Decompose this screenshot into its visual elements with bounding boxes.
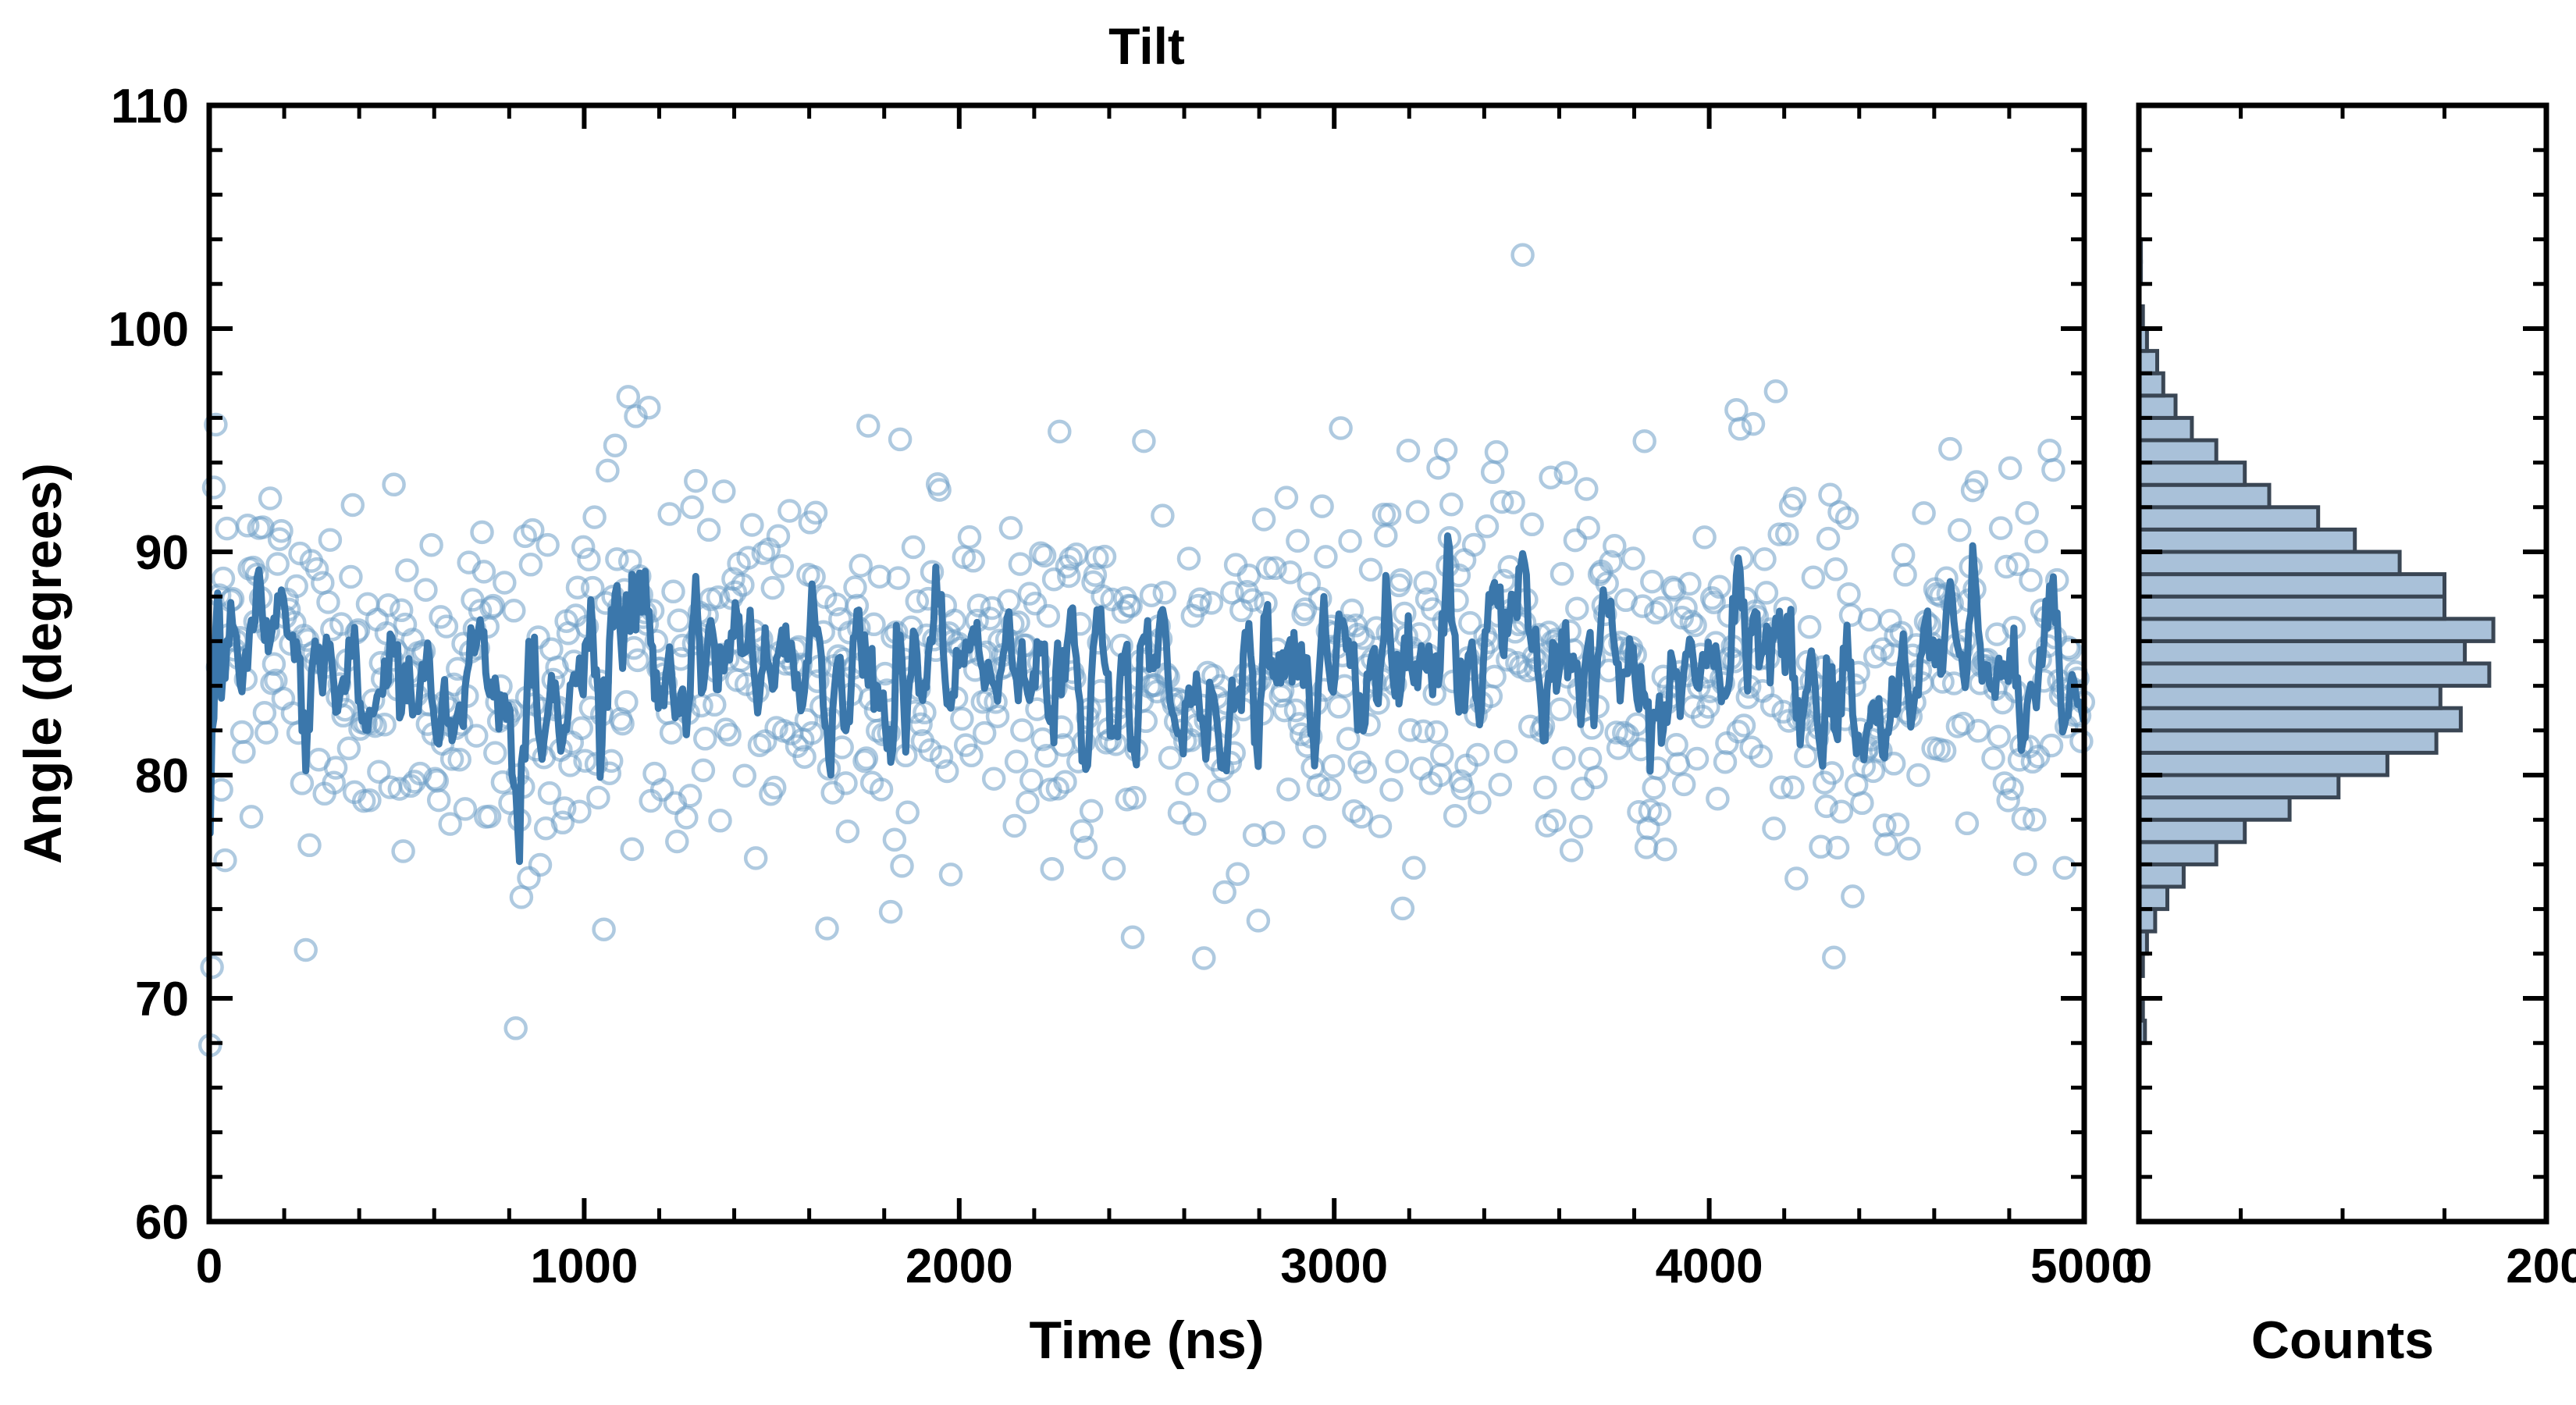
scatter-point bbox=[1331, 418, 1351, 439]
scatter-point bbox=[884, 830, 905, 850]
scatter-point bbox=[1387, 752, 1407, 772]
scatter-point bbox=[506, 1018, 526, 1038]
scatter-point bbox=[959, 527, 980, 547]
scatter-point bbox=[2055, 858, 2075, 878]
scatter-point bbox=[667, 831, 687, 852]
scatter-point bbox=[292, 774, 312, 794]
scatter-point bbox=[1803, 567, 1823, 588]
scatter-point bbox=[987, 706, 1008, 727]
scatter-point bbox=[898, 802, 918, 823]
scatter-point bbox=[1644, 777, 1664, 798]
scatter-point bbox=[1375, 525, 1396, 546]
scatter-point bbox=[772, 556, 792, 576]
scatter-point bbox=[578, 550, 599, 570]
scatter-point bbox=[628, 650, 648, 670]
scatter-point bbox=[622, 839, 642, 859]
scatter-point bbox=[1726, 400, 1746, 420]
scatter-point bbox=[1254, 510, 1274, 530]
main-x-tick-label: 5000 bbox=[2030, 1240, 2138, 1293]
scatter-point bbox=[1496, 742, 1516, 762]
histogram-bar bbox=[2139, 731, 2436, 753]
scatter-point bbox=[254, 702, 275, 723]
histogram-bar bbox=[2139, 440, 2216, 463]
histogram-bar bbox=[2139, 752, 2387, 775]
histogram-bar bbox=[2139, 596, 2445, 619]
scatter-point bbox=[1404, 858, 1424, 878]
scatter-point bbox=[661, 723, 681, 743]
scatter-point bbox=[838, 821, 858, 841]
scatter-point bbox=[494, 573, 514, 593]
scatter-point bbox=[256, 723, 276, 743]
scatter-point bbox=[1005, 816, 1025, 836]
scatter-point bbox=[1852, 793, 1872, 813]
scatter-point bbox=[429, 790, 449, 810]
main-y-axis-title: Angle (degrees) bbox=[13, 463, 73, 864]
scatter-point bbox=[890, 429, 910, 450]
scatter-point bbox=[2040, 440, 2060, 461]
scatter-point bbox=[1799, 617, 1820, 637]
histogram-bar bbox=[2139, 507, 2318, 530]
scatter-point bbox=[384, 475, 404, 495]
scatter-point bbox=[1839, 584, 1859, 604]
scatter-point bbox=[1578, 518, 1599, 538]
hist-x-tick-label: 200 bbox=[2506, 1240, 2576, 1293]
scatter-point bbox=[1407, 502, 1428, 522]
main-x-tick-label: 0 bbox=[196, 1240, 222, 1293]
scatter-point bbox=[1552, 564, 1572, 584]
scatter-point bbox=[1152, 506, 1172, 526]
histogram-bar bbox=[2139, 396, 2176, 418]
tilt-figure: 607080901001100100020003000400050000200T… bbox=[0, 0, 2576, 1405]
histogram-bar bbox=[2139, 418, 2192, 440]
scatter-point bbox=[1756, 582, 1777, 603]
main-x-tick-label: 3000 bbox=[1280, 1240, 1388, 1293]
scatter-point bbox=[1477, 516, 1497, 536]
scatter-point bbox=[1155, 582, 1175, 603]
scatter-point bbox=[1826, 559, 1846, 579]
scatter-point bbox=[1784, 489, 1805, 509]
scatter-point bbox=[2015, 854, 2035, 874]
scatter-point bbox=[1576, 479, 1596, 500]
scatter-point bbox=[202, 957, 222, 977]
scatter-point bbox=[1635, 431, 1655, 451]
scatter-point bbox=[2000, 458, 2020, 478]
scatter-point bbox=[1038, 606, 1059, 626]
scatter-point bbox=[704, 695, 724, 715]
scatter-point bbox=[1898, 838, 1919, 859]
scatter-point bbox=[881, 902, 901, 922]
scatter-point bbox=[1370, 816, 1390, 837]
scatter-point bbox=[1248, 910, 1268, 930]
scatter-point bbox=[745, 848, 766, 868]
scatter-point bbox=[466, 726, 486, 746]
scatter-point bbox=[710, 810, 731, 831]
histogram-bar bbox=[2139, 574, 2445, 597]
scatter-point bbox=[1382, 780, 1402, 800]
scatter-point bbox=[1209, 781, 1229, 801]
main-x-tick-label: 4000 bbox=[1656, 1240, 1763, 1293]
scatter-point bbox=[1957, 813, 1977, 834]
scatter-point bbox=[735, 766, 755, 786]
scatter-point bbox=[1940, 439, 1960, 459]
scatter-point bbox=[1398, 440, 1418, 461]
scatter-point bbox=[817, 919, 838, 939]
scatter-point bbox=[605, 436, 625, 456]
scatter-point bbox=[519, 868, 539, 888]
scatter-point bbox=[455, 799, 475, 819]
scatter-point bbox=[1567, 599, 1587, 619]
scatter-point bbox=[1133, 431, 1154, 451]
scatter-point bbox=[713, 482, 734, 502]
scatter-point bbox=[585, 507, 605, 528]
scatter-point bbox=[1561, 840, 1582, 860]
scatter-point bbox=[742, 515, 762, 535]
scatter-point bbox=[779, 501, 799, 521]
scatter-point bbox=[268, 554, 288, 574]
scatter-point bbox=[1482, 462, 1503, 482]
scatter-point bbox=[945, 610, 965, 631]
scatter-point bbox=[903, 537, 923, 557]
scatter-point bbox=[1179, 549, 1199, 569]
scatter-point bbox=[1823, 948, 1844, 968]
scatter-point bbox=[241, 806, 262, 827]
scatter-point bbox=[1989, 727, 2009, 747]
scatter-point bbox=[1042, 859, 1062, 879]
main-y-tick-label: 90 bbox=[135, 526, 189, 580]
histogram-bar bbox=[2139, 641, 2465, 663]
scatter-point bbox=[233, 742, 254, 762]
scatter-point bbox=[1766, 381, 1786, 401]
scatter-point bbox=[1393, 898, 1413, 919]
scatter-point bbox=[538, 535, 558, 555]
scatter-point bbox=[296, 940, 316, 960]
histogram-bar bbox=[2139, 463, 2245, 486]
scatter-point bbox=[343, 495, 363, 515]
main-y-tick-label: 80 bbox=[135, 749, 189, 803]
scatter-point bbox=[1888, 814, 1908, 834]
main-x-axis-title: Time (ns) bbox=[1029, 1311, 1264, 1370]
figure-root: 607080901001100100020003000400050000200T… bbox=[0, 0, 2576, 1405]
scatter-point bbox=[1623, 549, 1643, 569]
scatter-point bbox=[1010, 554, 1030, 574]
scatter-point bbox=[682, 497, 703, 518]
scatter-point bbox=[669, 610, 689, 631]
scatter-point bbox=[984, 769, 1004, 789]
main-y-tick-label: 100 bbox=[109, 303, 189, 357]
scatter-point bbox=[422, 535, 442, 555]
scatter-point bbox=[339, 738, 359, 759]
hist-x-axis-title: Counts bbox=[2251, 1311, 2434, 1370]
scatter-point bbox=[1287, 531, 1308, 551]
histogram-bar bbox=[2139, 798, 2290, 820]
scatter-point bbox=[1674, 774, 1694, 795]
scatter-point bbox=[1018, 792, 1038, 813]
scatter-point bbox=[764, 777, 785, 798]
scatter-point bbox=[1818, 528, 1838, 549]
plot-title: Tilt bbox=[1108, 17, 1185, 75]
scatter-point bbox=[1469, 792, 1489, 813]
histogram-bar bbox=[2139, 529, 2355, 552]
scatter-point bbox=[273, 688, 294, 709]
histogram-bar bbox=[2139, 820, 2245, 842]
scatter-point bbox=[1642, 571, 1662, 592]
main-y-tick-label: 60 bbox=[135, 1196, 189, 1250]
scatter-point bbox=[393, 841, 414, 862]
scatter-point bbox=[215, 850, 235, 870]
scatter-point bbox=[1177, 774, 1197, 794]
histogram-bar bbox=[2139, 619, 2493, 642]
scatter-point bbox=[521, 554, 541, 574]
scatter-point bbox=[1949, 520, 1969, 540]
scatter-point bbox=[1215, 882, 1235, 902]
scatter-point bbox=[693, 760, 713, 781]
scatter-point bbox=[1786, 869, 1806, 889]
scatter-point bbox=[1908, 765, 1928, 785]
scatter-point bbox=[1859, 610, 1880, 630]
scatter-point bbox=[1842, 886, 1863, 906]
scatter-point bbox=[1304, 827, 1325, 847]
histogram-bar bbox=[2139, 864, 2183, 887]
scatter-point bbox=[1535, 777, 1555, 798]
scatter-point bbox=[1436, 439, 1456, 460]
scatter-point bbox=[685, 471, 706, 491]
scatter-point bbox=[2043, 460, 2063, 480]
scatter-point bbox=[1081, 801, 1101, 821]
scatter-point bbox=[573, 537, 593, 557]
histogram-bar bbox=[2139, 552, 2400, 574]
scatter-point bbox=[474, 561, 494, 582]
main-x-tick-label: 1000 bbox=[530, 1240, 638, 1293]
scatter-point bbox=[1104, 859, 1124, 879]
scatter-point bbox=[720, 724, 740, 745]
scatter-point bbox=[530, 855, 550, 875]
scatter-point bbox=[1755, 549, 1775, 569]
scatter-point bbox=[1340, 531, 1361, 551]
scatter-point bbox=[1329, 696, 1349, 717]
scatter-point bbox=[1667, 735, 1687, 755]
scatter-point bbox=[1276, 488, 1297, 508]
scatter-point bbox=[1012, 720, 1032, 741]
scatter-point bbox=[2017, 503, 2037, 523]
scatter-point bbox=[415, 580, 436, 600]
scatter-point bbox=[588, 788, 608, 808]
scatter-point bbox=[459, 553, 479, 573]
scatter-point bbox=[1361, 560, 1381, 580]
scatter-point bbox=[318, 592, 339, 613]
scatter-point bbox=[755, 731, 775, 752]
scatter-point bbox=[1312, 496, 1332, 517]
scatter-point bbox=[1464, 535, 1484, 555]
scatter-point bbox=[1006, 752, 1026, 772]
scatter-point bbox=[594, 919, 614, 940]
scatter-point bbox=[1049, 421, 1069, 442]
scatter-point bbox=[620, 551, 640, 571]
scatter-point bbox=[1914, 503, 1934, 523]
scatter-point bbox=[1323, 756, 1343, 776]
histogram-bar bbox=[2139, 485, 2269, 507]
scatter-point bbox=[695, 728, 715, 749]
scatter-point bbox=[676, 807, 696, 827]
scatter-point bbox=[485, 743, 505, 763]
histogram-bar bbox=[2139, 373, 2163, 396]
scatter-point bbox=[1445, 806, 1465, 826]
scatter-point bbox=[1426, 722, 1446, 742]
scatter-point bbox=[391, 600, 411, 621]
scatter-point bbox=[1001, 518, 1021, 538]
scatter-point bbox=[1432, 745, 1452, 765]
scatter-point bbox=[763, 578, 783, 598]
histogram-bars-layer bbox=[2139, 240, 2493, 1044]
scatter-point bbox=[1486, 442, 1507, 462]
scatter-point bbox=[1730, 418, 1750, 439]
main-y-tick-label: 110 bbox=[111, 80, 189, 133]
scatter-point bbox=[699, 520, 719, 540]
scatter-point bbox=[1315, 546, 1336, 567]
scatter-point bbox=[1565, 530, 1585, 550]
scatter-point bbox=[260, 489, 280, 509]
scatter-point bbox=[1522, 514, 1542, 535]
scatter-point bbox=[1194, 948, 1214, 969]
scatter-point bbox=[1764, 818, 1784, 838]
scatter-point bbox=[892, 855, 913, 876]
scatter-point bbox=[1226, 555, 1246, 575]
scatter-point bbox=[1984, 748, 2004, 768]
scatter-point bbox=[472, 522, 493, 542]
scatter-point bbox=[1571, 816, 1591, 837]
scatter-point bbox=[2026, 532, 2047, 552]
scatter-point bbox=[1585, 767, 1606, 788]
scatter-point bbox=[1184, 814, 1204, 834]
scatter-point bbox=[941, 864, 961, 884]
scatter-point bbox=[320, 530, 340, 550]
scatter-point bbox=[1687, 749, 1707, 769]
scatter-point bbox=[999, 591, 1019, 611]
main-x-tick-label: 2000 bbox=[906, 1240, 1013, 1293]
scatter-point bbox=[1893, 545, 1913, 565]
scatter-point bbox=[2071, 731, 2091, 752]
scatter-point bbox=[503, 600, 524, 621]
scatter-point bbox=[858, 416, 878, 436]
scatter-point bbox=[397, 560, 417, 581]
scatter-point bbox=[618, 386, 639, 407]
histogram-bar bbox=[2139, 686, 2440, 709]
scatter-point bbox=[217, 518, 237, 539]
scatter-point bbox=[511, 887, 532, 907]
scatter-point bbox=[952, 709, 972, 729]
scatter-point bbox=[1278, 779, 1298, 799]
scatter-point bbox=[1573, 778, 1593, 799]
scatter-point bbox=[232, 722, 252, 742]
main-y-tick-label: 70 bbox=[135, 973, 189, 1026]
scatter-point bbox=[1553, 748, 1574, 768]
scatter-point bbox=[1513, 245, 1533, 265]
hist-x-tick-label: 0 bbox=[2126, 1240, 2152, 1293]
scatter-point bbox=[1550, 699, 1571, 720]
scatter-point bbox=[1991, 518, 2011, 539]
histogram-bar bbox=[2139, 663, 2489, 686]
scatter-point bbox=[1441, 494, 1461, 514]
scatter-point bbox=[660, 504, 680, 525]
scatter-point bbox=[1695, 527, 1715, 547]
scatter-point bbox=[300, 835, 320, 855]
scatter-point bbox=[378, 595, 398, 615]
histogram-bar bbox=[2139, 708, 2460, 731]
histogram-bar bbox=[2139, 887, 2168, 909]
scatter-point bbox=[1123, 927, 1143, 948]
scatter-point bbox=[1490, 774, 1510, 795]
histogram-bar bbox=[2139, 775, 2339, 798]
scatter-point bbox=[326, 758, 346, 778]
scatter-point bbox=[1734, 716, 1754, 736]
scatter-point bbox=[664, 582, 684, 602]
scatter-point bbox=[340, 567, 361, 587]
scatter-point bbox=[2021, 570, 2041, 590]
scatter-point bbox=[1743, 414, 1763, 434]
scatter-point bbox=[597, 461, 617, 481]
scatter-point bbox=[1228, 864, 1248, 884]
scatter-point bbox=[1895, 564, 1916, 585]
histogram-bar bbox=[2139, 351, 2158, 374]
scatter-point bbox=[2041, 735, 2062, 756]
scatter-point bbox=[851, 556, 871, 576]
scatter-point bbox=[1707, 788, 1727, 809]
scatter-point bbox=[1160, 748, 1180, 768]
histogram-bar bbox=[2139, 842, 2216, 865]
